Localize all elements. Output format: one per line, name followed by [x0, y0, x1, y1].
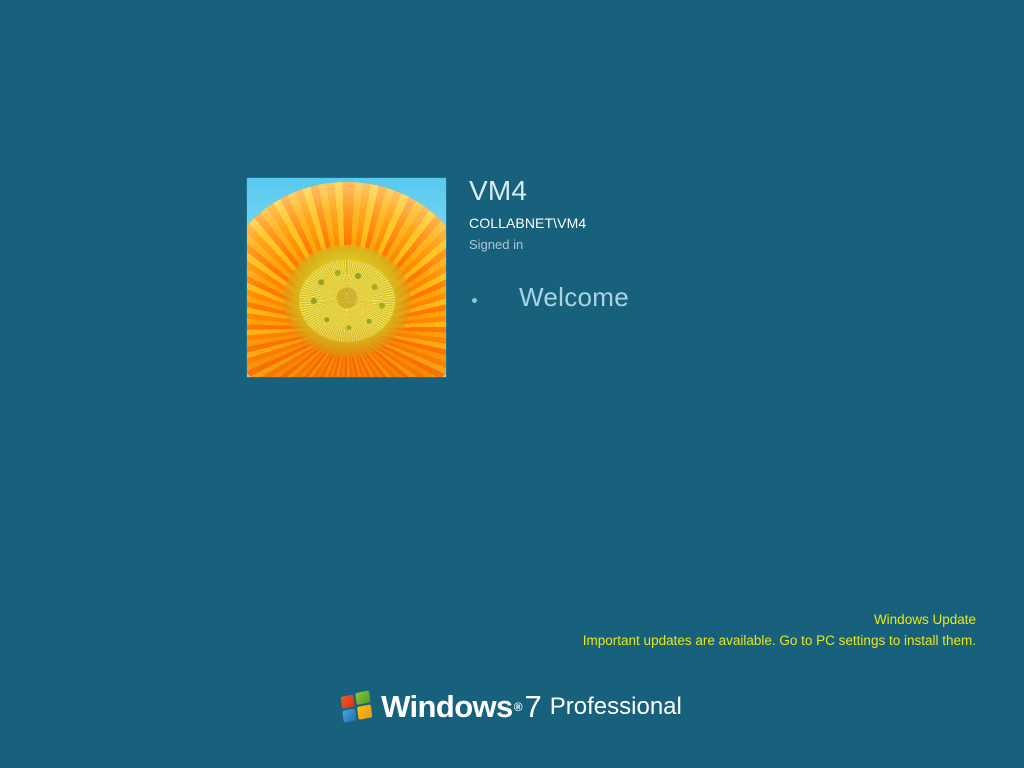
- windows-update-notification[interactable]: Windows Update Important updates are ava…: [556, 610, 976, 651]
- brand-version: 7: [525, 690, 542, 724]
- update-notification-title: Windows Update: [556, 610, 976, 630]
- windows-branding: Windows ® 7 Professional: [0, 690, 1024, 724]
- welcome-status-row: Welcome: [472, 282, 629, 313]
- user-avatar[interactable]: [246, 177, 447, 378]
- user-tile[interactable]: VM4 COLLABNET\VM4 Signed in Welcome: [246, 177, 986, 387]
- avatar-bottom-shadow: [247, 325, 446, 377]
- registered-trademark-icon: ®: [514, 701, 523, 713]
- update-notification-message: Important updates are available. Go to P…: [556, 631, 976, 651]
- loading-spinner-dot: [472, 298, 477, 303]
- logon-screen: VM4 COLLABNET\VM4 Signed in Welcome Wind…: [0, 0, 1024, 768]
- user-status-label: Signed in: [469, 235, 586, 254]
- windows-flag-icon: [341, 690, 374, 724]
- user-info: VM4 COLLABNET\VM4 Signed in: [469, 174, 586, 254]
- welcome-label: Welcome: [519, 282, 629, 313]
- user-display-name: VM4: [469, 174, 586, 208]
- brand-product-name: Windows: [381, 690, 513, 724]
- brand-edition: Professional: [550, 690, 682, 724]
- user-domain-account: COLLABNET\VM4: [469, 213, 586, 233]
